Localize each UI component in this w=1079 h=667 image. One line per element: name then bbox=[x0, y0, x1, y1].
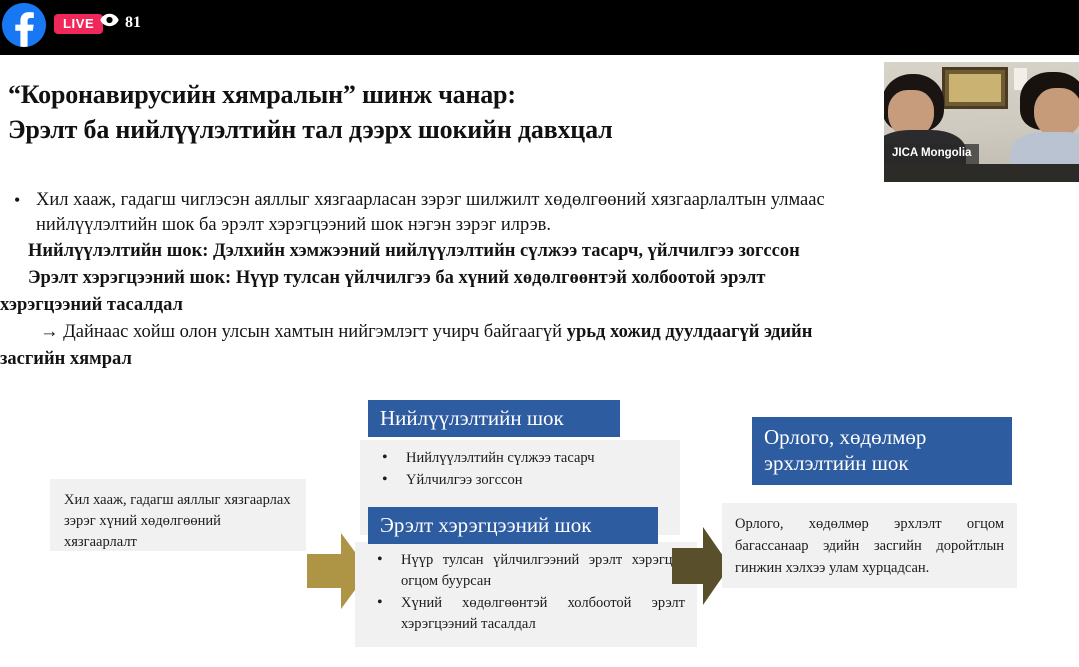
diagram-right-box-text: Орлого, хөдөлмөр эрхлэлт огцом багассана… bbox=[735, 516, 1004, 576]
viewer-count-value: 81 bbox=[125, 14, 141, 32]
list-item-label: Хүний хөдөлгөөнтэй холбоотой эрэлт хэрэг… bbox=[401, 593, 685, 635]
diagram-income-shock-header: Орлого, хөдөлмөр эрхлэлтийн шок bbox=[752, 417, 1012, 485]
diagram-supply-shock-list: • Нийлүүлэлтийн сүлжээ тасарч • Үйлчилгэ… bbox=[360, 440, 680, 491]
list-item: • Хүний хөдөлгөөнтэй холбоотой эрэлт хэр… bbox=[369, 593, 685, 635]
diagram-demand-shock-header: Эрэлт хэрэгцээний шок bbox=[368, 507, 658, 544]
video-table-foreground bbox=[884, 164, 1079, 182]
video-participant-tile[interactable]: JICA Mongolia bbox=[884, 62, 1079, 182]
bullet-marker-icon: • bbox=[377, 549, 383, 570]
list-item: • Үйлчилгээ зогссон bbox=[374, 470, 668, 491]
video-participant-name: JICA Mongolia bbox=[884, 144, 979, 164]
bullet-marker-icon: • bbox=[382, 447, 388, 468]
viewer-count-group: 81 bbox=[100, 13, 141, 32]
facebook-logo-icon[interactable] bbox=[2, 3, 46, 47]
zoom-watermark: zoom bbox=[858, 663, 985, 667]
diagram-right-box: Орлого, хөдөлмөр эрхлэлт огцом багассана… bbox=[722, 503, 1017, 588]
list-item-label: Нүүр тулсан үйлчилгээний эрэлт хэрэгцээ … bbox=[401, 550, 685, 592]
diagram-left-box-text: Хил хааж, гадагш аяллыг хязгаарлах зэрэг… bbox=[64, 492, 291, 550]
wall-certificate-inner bbox=[949, 74, 1001, 102]
live-badge: LIVE bbox=[54, 14, 103, 34]
wall-certificate-frame bbox=[942, 67, 1008, 109]
screenshot-root: LIVE 81 “Коронавирусийн хямралын” шинж ч… bbox=[0, 0, 1079, 667]
list-item: • Нүүр тулсан үйлчилгээний эрэлт хэрэгцэ… bbox=[369, 550, 685, 592]
list-item-label: Нийлүүлэлтийн сүлжээ тасарч bbox=[406, 448, 668, 469]
diagram-demand-shock-list: • Нүүр тулсан үйлчилгээний эрэлт хэрэгцэ… bbox=[355, 542, 697, 635]
bullet-marker-icon: • bbox=[382, 469, 388, 490]
list-item-label: Үйлчилгээ зогссон bbox=[406, 470, 668, 491]
facebook-live-topbar: LIVE 81 bbox=[0, 0, 1079, 55]
bullet-marker-icon: • bbox=[377, 592, 383, 613]
diagram-demand-shock-body: • Нүүр тулсан үйлчилгээний эрэлт хэрэгцэ… bbox=[355, 542, 697, 647]
list-item: • Нийлүүлэлтийн сүлжээ тасарч bbox=[374, 448, 668, 469]
participant-2-face bbox=[1034, 88, 1079, 138]
diagram-supply-shock-header: Нийлүүлэлтийн шок bbox=[368, 400, 620, 437]
eye-icon bbox=[100, 13, 119, 32]
diagram-left-box: Хил хааж, гадагш аяллыг хязгаарлах зэрэг… bbox=[50, 479, 306, 551]
